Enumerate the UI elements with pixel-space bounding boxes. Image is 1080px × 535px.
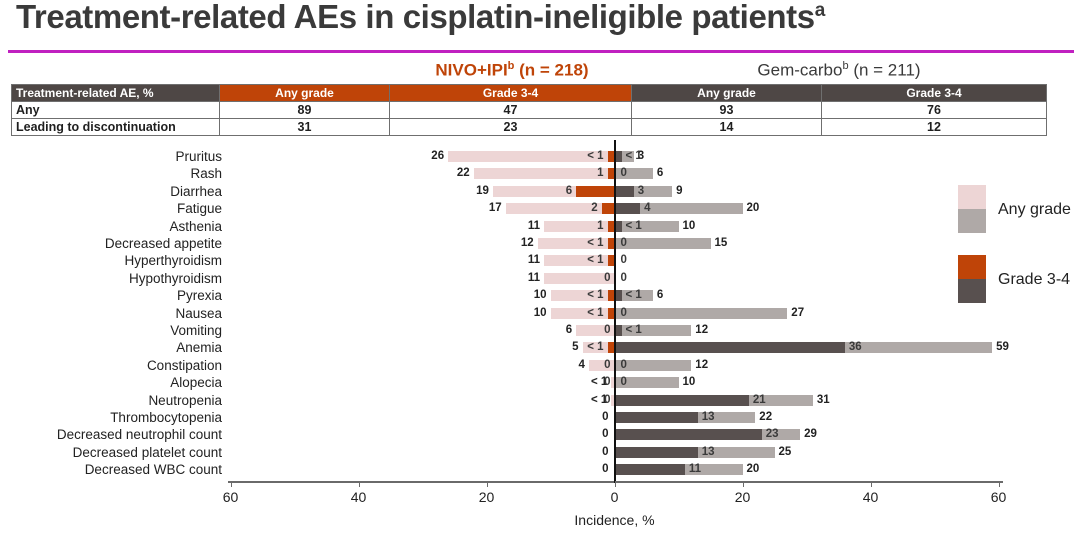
value-gem-grade34: 36 [849, 341, 862, 354]
legend-swatch-grade34-right [958, 279, 986, 303]
bar-gem-grade34 [615, 342, 845, 353]
value-gem-any-grade: 27 [791, 307, 804, 320]
value-gem-any-grade: 9 [676, 185, 682, 198]
value-gem-grade34: 0 [621, 254, 627, 267]
summary-row1-v1: 23 [390, 119, 632, 136]
bar-gem-grade34 [615, 395, 749, 406]
value-gem-any-grade: 10 [683, 376, 696, 389]
value-gem-grade34: 23 [766, 428, 779, 441]
value-gem-grade34: 0 [621, 237, 627, 250]
value-nivo-grade34: < 1 [574, 150, 604, 163]
x-tick [871, 481, 873, 487]
arm-gem-name: Gem-carbo [757, 61, 842, 80]
legend-swatch-any-grade-right [958, 209, 986, 233]
chart-row: Decreased WBC count02011 [0, 461, 1080, 478]
value-nivo-any-grade: 11 [510, 220, 540, 233]
x-axis-title: Incidence, % [0, 512, 1080, 528]
value-gem-grade34: 13 [702, 446, 715, 459]
bar-gem-grade34 [615, 464, 685, 475]
chart-row: Rash22160 [0, 165, 1080, 182]
bar-gem-grade34 [615, 429, 762, 440]
chart-row: Hyperthyroidism11< 10 [0, 252, 1080, 269]
value-gem-grade34: 3 [638, 185, 644, 198]
bar-nivo-grade34 [576, 186, 614, 197]
bar-gem-any-grade [615, 308, 788, 319]
value-nivo-grade34: 0 [581, 272, 611, 285]
value-nivo-grade34: 1 [574, 167, 604, 180]
arm-gem-n: (n = 211) [853, 61, 920, 80]
summary-row0-v3: 76 [822, 102, 1047, 119]
bar-gem-grade34 [615, 203, 641, 214]
value-gem-any-grade: 6 [657, 167, 663, 180]
value-nivo-grade34: < 1 [574, 307, 604, 320]
chart-row: Hypothyroidism1100 [0, 270, 1080, 287]
chart-row: Anemia5< 15936 [0, 339, 1080, 356]
x-tick-label: 20 [467, 489, 507, 505]
bar-gem-grade34 [615, 186, 634, 197]
arm-gem-superscript: b [842, 60, 848, 72]
category-label: Pyrexia [0, 287, 222, 304]
chart-row: Pruritus26< 13< 1 [0, 148, 1080, 165]
category-label: Decreased appetite [0, 235, 222, 252]
slide-title-text: Treatment-related AEs in cisplatin-ineli… [16, 0, 815, 35]
category-label: Neutropenia [0, 392, 222, 409]
value-nivo-any-grade: 0 [579, 411, 609, 424]
title-divider [8, 50, 1074, 53]
value-nivo-any-grade: 11 [510, 272, 540, 285]
value-nivo-any-grade: 0 [579, 463, 609, 476]
value-nivo-grade34: 1 [574, 220, 604, 233]
legend-label-grade34: Grade 3-4 [998, 271, 1070, 289]
chart-row: Nausea10< 1270 [0, 305, 1080, 322]
summary-table: Treatment-related AE, % Any grade Grade … [11, 84, 1047, 136]
category-label: Diarrhea [0, 183, 222, 200]
value-nivo-any-grade: 10 [517, 307, 547, 320]
chart-row: Asthenia11110< 1 [0, 218, 1080, 235]
value-gem-any-grade: 12 [695, 359, 708, 372]
bar-gem-grade34 [615, 325, 622, 336]
value-gem-grade34: < 1 [626, 220, 642, 233]
value-gem-grade34: 0 [621, 307, 627, 320]
legend-label-any-grade: Any grade [998, 201, 1071, 219]
summary-row1-v2: 14 [632, 119, 822, 136]
value-gem-grade34: 11 [689, 463, 701, 476]
value-gem-any-grade: 29 [804, 428, 817, 441]
value-nivo-any-grade: 11 [510, 254, 540, 267]
value-nivo-grade34: < 1 [574, 254, 604, 267]
summary-header-gem-any: Any grade [632, 85, 822, 102]
ae-incidence-chart: Pruritus26< 13< 1Rash22160Diarrhea19693F… [0, 140, 1080, 535]
value-gem-grade34: 21 [753, 394, 766, 407]
zero-baseline [614, 140, 616, 483]
category-label: Hypothyroidism [0, 270, 222, 287]
summary-header-label: Treatment-related AE, % [12, 85, 220, 102]
x-tick-label: 0 [595, 489, 635, 505]
summary-header-nivo-g34: Grade 3-4 [390, 85, 632, 102]
chart-row: Neutropenia< 103121 [0, 392, 1080, 409]
value-nivo-grade34: 0 [581, 359, 611, 372]
bar-gem-grade34 [615, 221, 622, 232]
value-nivo-any-grade: 12 [504, 237, 534, 250]
value-nivo-any-grade: 0 [579, 446, 609, 459]
summary-row1-label: Leading to discontinuation [12, 119, 220, 136]
bar-gem-any-grade [615, 221, 679, 232]
category-label: Pruritus [0, 148, 222, 165]
category-label: Hyperthyroidism [0, 252, 222, 269]
value-gem-any-grade: 20 [747, 202, 760, 215]
chart-row: Decreased platelet count02513 [0, 444, 1080, 461]
chart-row: Alopecia< 10100 [0, 374, 1080, 391]
value-gem-any-grade: 20 [747, 463, 760, 476]
value-gem-grade34: 13 [702, 411, 715, 424]
summary-row0-v2: 93 [632, 102, 822, 119]
value-nivo-grade34: < 1 [574, 237, 604, 250]
value-nivo-any-grade: 26 [414, 150, 444, 163]
value-nivo-any-grade: 0 [579, 428, 609, 441]
arm-header-gem: Gem-carbob (n = 211) [632, 60, 1046, 81]
x-tick [999, 481, 1001, 487]
arm-nivo-superscript: b [508, 60, 515, 72]
x-tick-label: 40 [339, 489, 379, 505]
chart-row: Diarrhea19693 [0, 183, 1080, 200]
x-tick [615, 481, 617, 487]
x-tick [231, 481, 233, 487]
chart-row: Constipation40120 [0, 357, 1080, 374]
summary-header-gem-g34: Grade 3-4 [822, 85, 1047, 102]
category-label: Anemia [0, 339, 222, 356]
x-tick-label: 20 [723, 489, 763, 505]
category-label: Nausea [0, 305, 222, 322]
x-tick-label: 40 [851, 489, 891, 505]
value-nivo-any-grade: 17 [472, 202, 502, 215]
arm-nivo-n: (n = 218) [519, 61, 588, 80]
value-gem-any-grade: 59 [996, 341, 1009, 354]
value-gem-any-grade: 31 [817, 394, 830, 407]
table-row: Any 89 47 93 76 [12, 102, 1047, 119]
value-gem-grade34: < 1 [626, 324, 642, 337]
value-gem-grade34: 0 [621, 167, 627, 180]
chart-row: Vomiting6012< 1 [0, 322, 1080, 339]
arm-header-nivo: NIVO+IPIb (n = 218) [390, 60, 634, 81]
chart-row: Decreased neutrophil count02923 [0, 426, 1080, 443]
value-nivo-grade34: 6 [542, 185, 572, 198]
value-gem-any-grade: 25 [779, 446, 792, 459]
value-gem-grade34: 0 [621, 376, 627, 389]
value-nivo-any-grade: 10 [517, 289, 547, 302]
category-label: Fatigue [0, 200, 222, 217]
bar-gem-grade34 [615, 290, 622, 301]
category-label: Constipation [0, 357, 222, 374]
value-gem-grade34: 0 [621, 272, 627, 285]
summary-row0-v0: 89 [220, 102, 390, 119]
bar-gem-grade34 [615, 151, 622, 162]
category-label: Rash [0, 165, 222, 182]
table-row: Leading to discontinuation 31 23 14 12 [12, 119, 1047, 136]
summary-table-header-row: Treatment-related AE, % Any grade Grade … [12, 85, 1047, 102]
value-gem-any-grade: 22 [759, 411, 772, 424]
summary-row1-v0: 31 [220, 119, 390, 136]
legend-swatch-grade34-left [958, 255, 986, 279]
bar-gem-grade34 [615, 447, 698, 458]
value-nivo-any-grade: 6 [542, 324, 572, 337]
value-nivo-grade34: 0 [581, 324, 611, 337]
value-gem-grade34: 4 [644, 202, 650, 215]
category-label: Asthenia [0, 218, 222, 235]
bar-nivo-grade34 [602, 203, 615, 214]
value-nivo-grade34: 2 [568, 202, 598, 215]
category-label: Vomiting [0, 322, 222, 339]
summary-row1-v3: 12 [822, 119, 1047, 136]
value-gem-grade34: < 1 [626, 150, 642, 163]
value-nivo-any-grade: 19 [459, 185, 489, 198]
value-nivo-grade34: < 1 [574, 289, 604, 302]
arm-nivo-name: NIVO+IPI [435, 61, 507, 80]
category-label: Thrombocytopenia [0, 409, 222, 426]
x-tick-label: 60 [211, 489, 251, 505]
value-gem-grade34: 0 [621, 359, 627, 372]
summary-row0-label: Any [12, 102, 220, 119]
value-nivo-grade34: < 1 [574, 341, 604, 354]
category-label: Decreased neutrophil count [0, 426, 222, 443]
value-gem-any-grade: 6 [657, 289, 663, 302]
legend-swatch-any-grade-left [958, 185, 986, 209]
value-nivo-grade34: 0 [581, 394, 611, 407]
chart-row: Thrombocytopenia02213 [0, 409, 1080, 426]
value-gem-any-grade: 12 [695, 324, 708, 337]
bar-nivo-any-grade [506, 203, 615, 214]
category-label: Alopecia [0, 374, 222, 391]
chart-row: Decreased appetite12< 1150 [0, 235, 1080, 252]
x-tick-label: 60 [979, 489, 1019, 505]
x-tick [359, 481, 361, 487]
summary-header-nivo-any: Any grade [220, 85, 390, 102]
category-label: Decreased platelet count [0, 444, 222, 461]
chart-row: Fatigue172204 [0, 200, 1080, 217]
bar-gem-any-grade [615, 238, 711, 249]
value-gem-any-grade: 10 [683, 220, 696, 233]
category-label: Decreased WBC count [0, 461, 222, 478]
value-nivo-grade34: 0 [581, 376, 611, 389]
chart-row: Pyrexia10< 16< 1 [0, 287, 1080, 304]
bar-gem-grade34 [615, 412, 698, 423]
value-gem-any-grade: 15 [715, 237, 728, 250]
value-nivo-any-grade: 22 [440, 167, 470, 180]
slide-title: Treatment-related AEs in cisplatin-ineli… [16, 0, 1066, 36]
slide-title-superscript: a [815, 0, 825, 21]
x-tick [487, 481, 489, 487]
summary-row0-v1: 47 [390, 102, 632, 119]
value-gem-grade34: < 1 [626, 289, 642, 302]
x-tick [743, 481, 745, 487]
